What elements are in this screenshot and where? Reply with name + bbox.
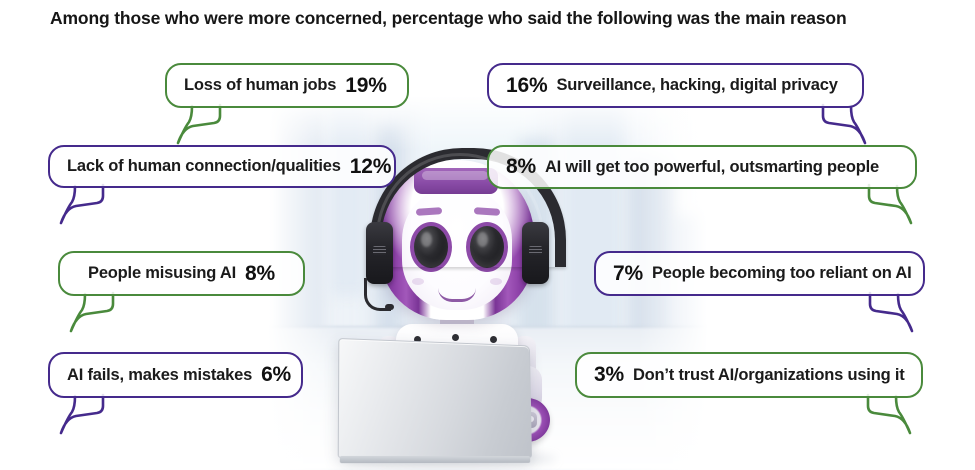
robot-illustration xyxy=(352,160,562,445)
bubble-label: Don’t trust AI/organizations using it xyxy=(633,366,905,385)
bubble-tail-lack-of-human-connection xyxy=(55,182,111,228)
bubble-label: Loss of human jobs xyxy=(184,76,336,95)
bubble-label: AI will get too powerful, outsmarting pe… xyxy=(545,158,879,177)
bubble-tail-people-misusing-ai xyxy=(65,290,121,336)
bubble-tail-ai-fails xyxy=(55,392,111,438)
laptop-hinge xyxy=(340,456,530,463)
headset-grill-right xyxy=(529,246,542,255)
bubble-tail-surveillance xyxy=(815,102,871,148)
bubble-surveillance-hacking-privacy[interactable]: 16% Surveillance, hacking, digital priva… xyxy=(487,63,864,108)
bubble-people-misusing-ai[interactable]: People misusing AI 8% xyxy=(58,251,305,296)
bubble-tail-too-reliant xyxy=(862,290,918,336)
bubble-label: People becoming too reliant on AI xyxy=(652,264,912,283)
bubble-dont-trust-ai[interactable]: 3% Don’t trust AI/organizations using it xyxy=(575,352,923,398)
bubble-value: 8% xyxy=(506,155,536,179)
page-title: Among those who were more concerned, per… xyxy=(50,8,940,29)
bubble-tail-loss-of-human-jobs xyxy=(172,102,228,148)
robot-bolt xyxy=(452,334,459,341)
robot-cheek-right xyxy=(490,278,502,285)
bubble-value: 6% xyxy=(261,363,291,387)
bubble-label: Lack of human connection/qualities xyxy=(67,157,341,176)
bubble-loss-of-human-jobs[interactable]: Loss of human jobs 19% xyxy=(165,63,409,108)
bubble-value: 3% xyxy=(594,363,624,387)
bubble-value: 8% xyxy=(245,262,275,286)
robot-bolt xyxy=(490,336,497,343)
laptop-lid xyxy=(338,338,532,458)
infographic-canvas: Among those who were more concerned, per… xyxy=(0,0,975,470)
bubble-lack-of-human-connection[interactable]: Lack of human connection/qualities 12% xyxy=(48,145,396,188)
bubble-ai-fails-makes-mistakes[interactable]: AI fails, makes mistakes 6% xyxy=(48,352,303,398)
robot-cheek-left xyxy=(412,278,424,285)
bubble-label: People misusing AI xyxy=(88,264,236,283)
headset-grill-left xyxy=(373,246,386,255)
bubble-value: 12% xyxy=(350,155,391,179)
bubble-ai-too-powerful[interactable]: 8% AI will get too powerful, outsmarting… xyxy=(487,145,917,189)
bubble-too-reliant-on-ai[interactable]: 7% People becoming too reliant on AI xyxy=(594,251,925,296)
bubble-value: 16% xyxy=(506,74,547,98)
headset-microphone-tip xyxy=(385,304,394,310)
bubble-tail-dont-trust-ai xyxy=(860,392,916,438)
bubble-value: 7% xyxy=(613,262,643,286)
bubble-label: AI fails, makes mistakes xyxy=(67,366,252,385)
bubble-label: Surveillance, hacking, digital privacy xyxy=(556,76,837,95)
laptop xyxy=(338,338,532,458)
bubble-value: 19% xyxy=(345,74,386,98)
